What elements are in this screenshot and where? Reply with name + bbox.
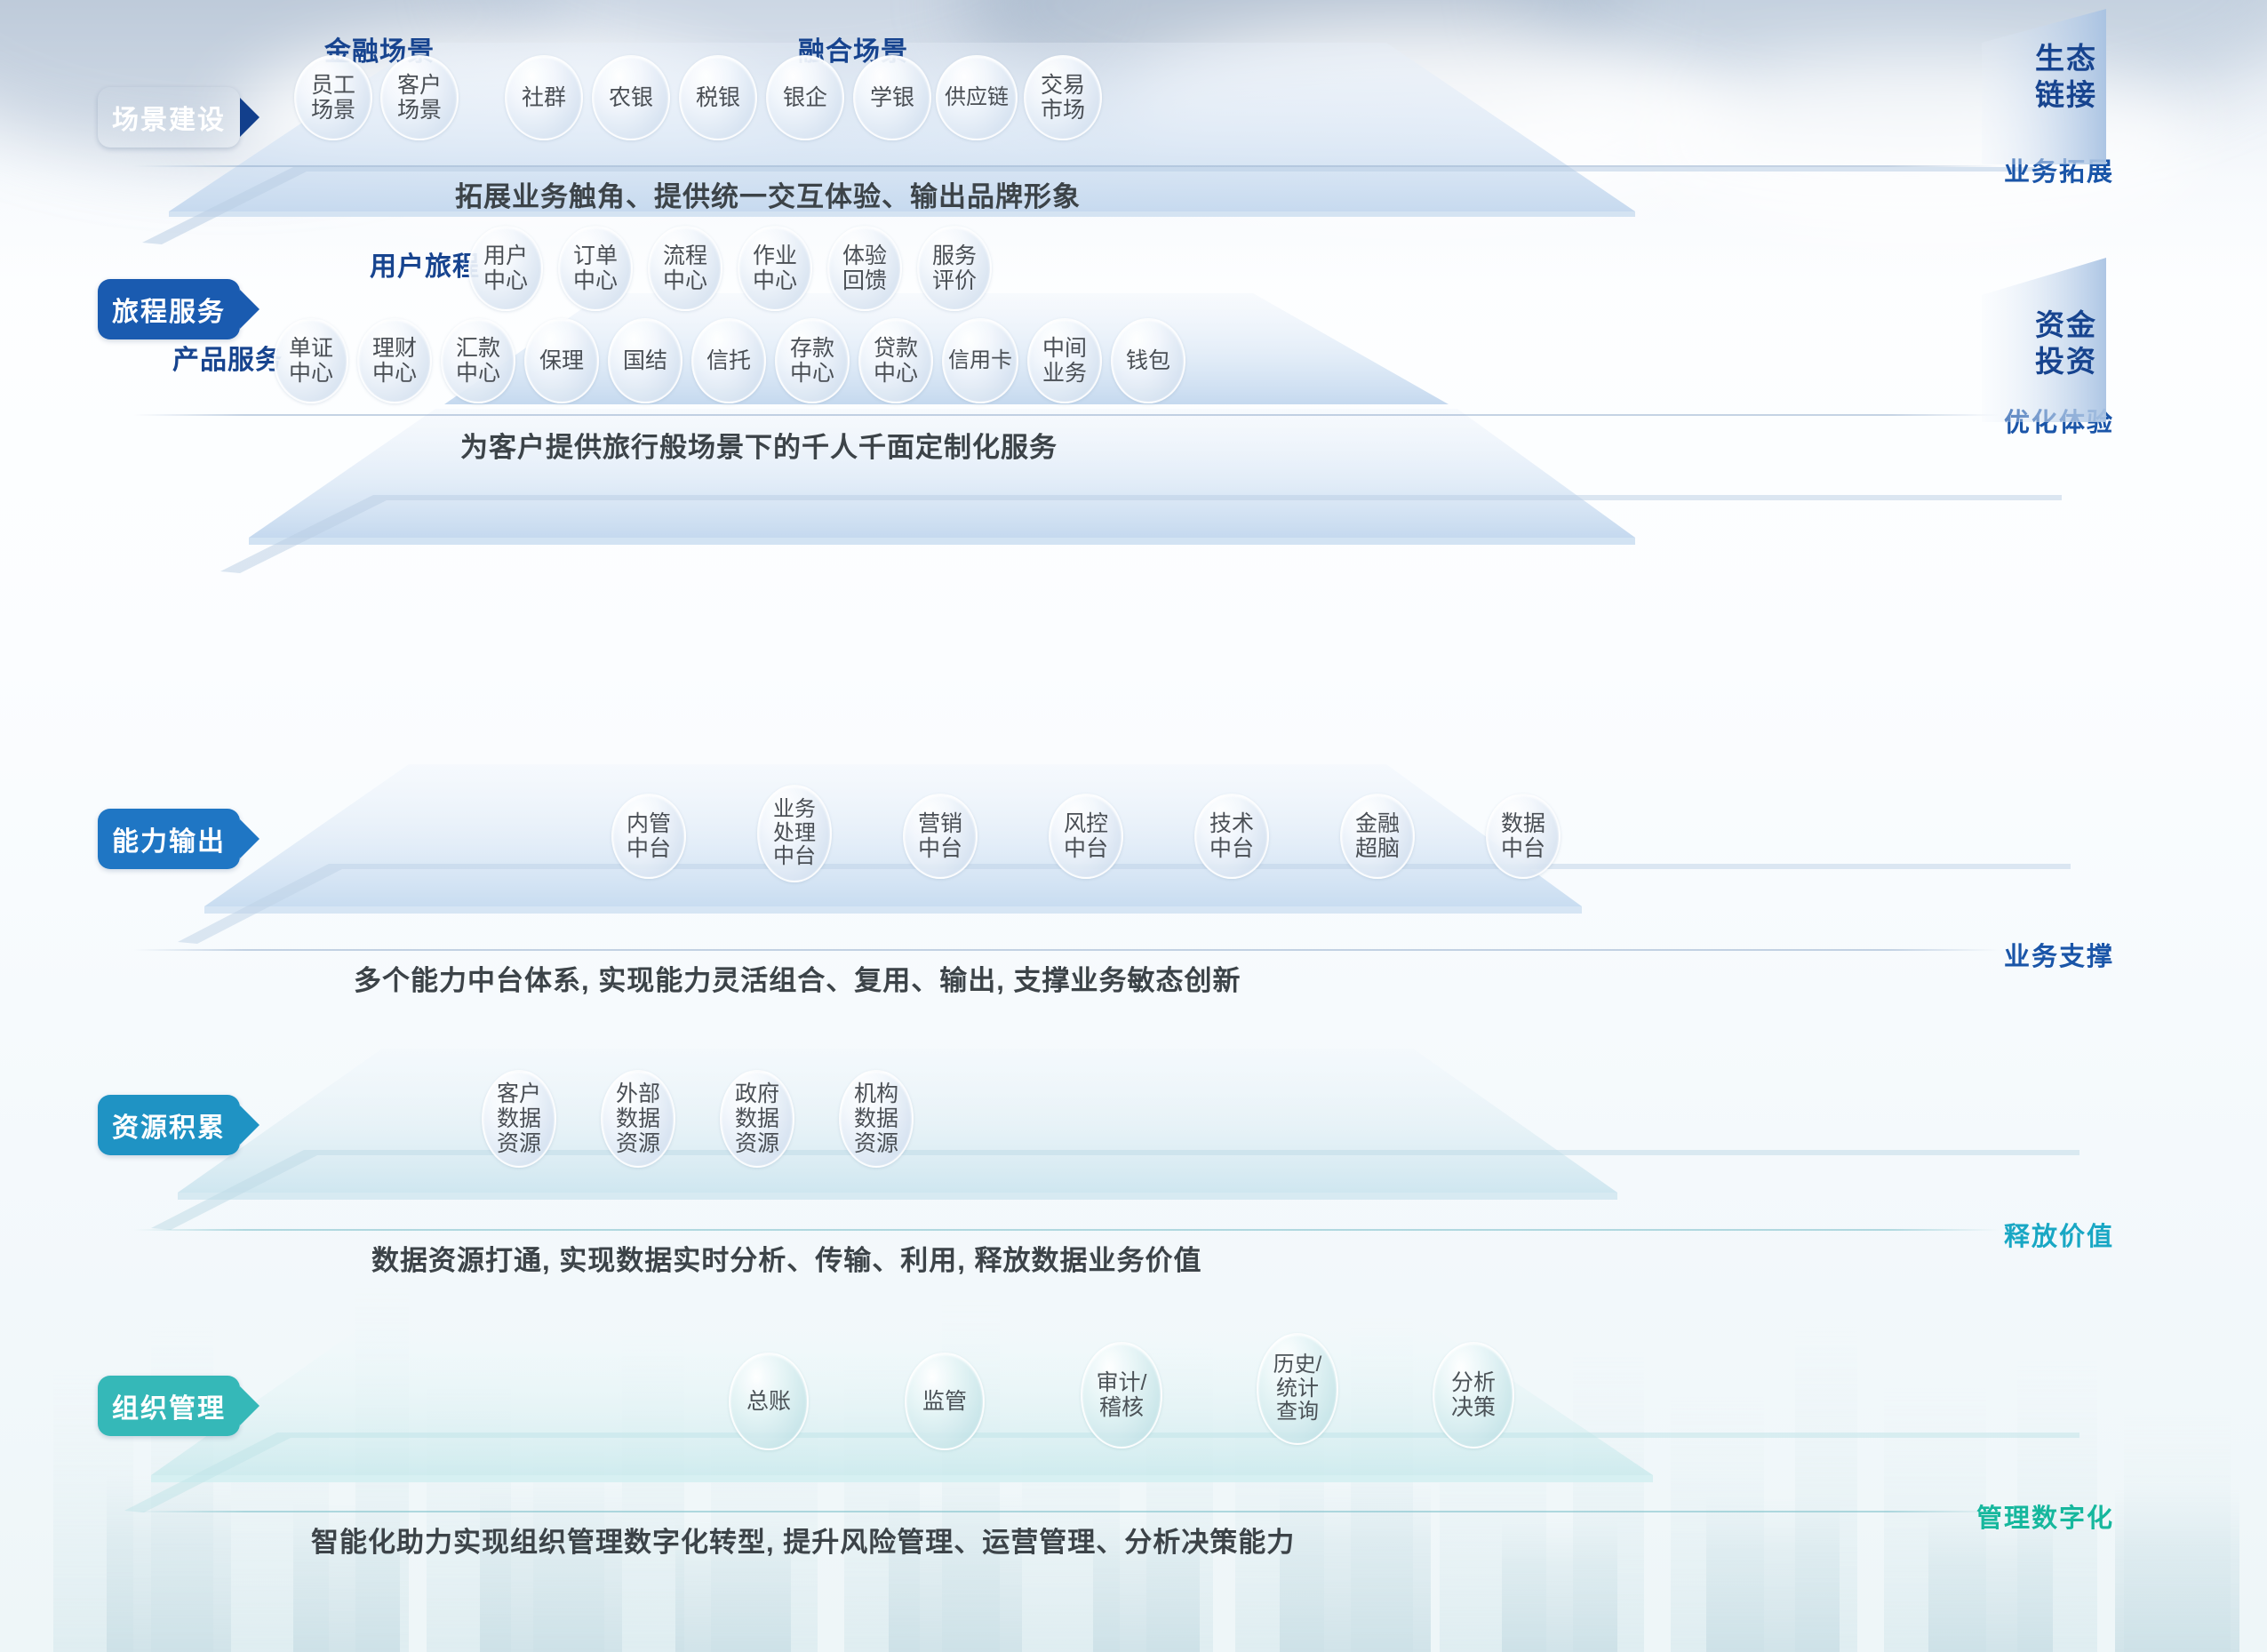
ribbon-line: 投资 xyxy=(2035,345,2097,378)
node-line: 农银 xyxy=(609,85,653,110)
tier-divider-scene xyxy=(133,165,2000,167)
tier-divider-organization xyxy=(133,1511,2000,1512)
node-line: 数据 xyxy=(497,1106,541,1131)
node-line: 供应链 xyxy=(945,86,1009,110)
node-line: 贷款 xyxy=(874,336,918,361)
tier-pill-label: 组织管理 xyxy=(112,1386,226,1425)
node-line: 中心 xyxy=(372,361,417,386)
tier-slogan-journey: 为客户提供旅行般场景下的千人千面定制化服务 xyxy=(460,425,1058,465)
node-line: 中心 xyxy=(289,361,333,386)
node-wallet[interactable]: 钱包 xyxy=(1111,318,1185,403)
node-line: 中心 xyxy=(874,361,918,386)
node-government-data-resource[interactable]: 政府 数据 资源 xyxy=(720,1070,794,1168)
node-line: 审计/ xyxy=(1097,1370,1147,1395)
node-internal-mgmt-platform[interactable]: 内管 中台 xyxy=(611,794,686,879)
node-general-ledger[interactable]: 总账 xyxy=(729,1353,809,1450)
node-line: 场景 xyxy=(311,98,355,123)
node-line: 中心 xyxy=(663,268,707,293)
node-line: 订单 xyxy=(573,243,618,268)
node-service-evaluation[interactable]: 服务 评价 xyxy=(917,226,992,311)
node-line: 资源 xyxy=(854,1131,898,1156)
group-caption-user-journey: 用户旅程 xyxy=(370,244,480,283)
node-audit-inspection[interactable]: 审计/ 稽核 xyxy=(1081,1342,1162,1448)
node-line: 历史/ xyxy=(1273,1353,1322,1377)
node-line: 数据 xyxy=(854,1106,898,1131)
node-line: 客户 xyxy=(497,1081,541,1106)
node-line: 国结 xyxy=(623,348,667,373)
node-employee-scene[interactable]: 员工 场景 xyxy=(294,55,372,140)
node-line: 分析 xyxy=(1451,1370,1496,1395)
tier-pill-resource-accumulation[interactable]: 资源积累 xyxy=(98,1095,240,1155)
tier-pill-label: 能力输出 xyxy=(112,819,226,858)
node-community[interactable]: 社群 xyxy=(505,55,583,140)
ribbon-line: 链接 xyxy=(2035,78,2097,111)
node-external-data-resource[interactable]: 外部 数据 资源 xyxy=(601,1070,675,1168)
node-line: 稽核 xyxy=(1099,1395,1144,1420)
node-line: 中心 xyxy=(753,268,797,293)
node-line: 处理 xyxy=(773,822,816,846)
node-line: 存款 xyxy=(790,336,834,361)
node-line: 学银 xyxy=(870,85,914,110)
node-line: 金融 xyxy=(1355,811,1400,836)
pill-arrow-icon xyxy=(240,819,259,858)
node-trust[interactable]: 信托 xyxy=(691,318,766,403)
node-line: 业务 xyxy=(1042,361,1087,386)
node-business-process-platform[interactable]: 业务 处理 中台 xyxy=(757,785,832,882)
pill-arrow-icon xyxy=(240,1105,259,1145)
node-line: 作业 xyxy=(753,243,797,268)
node-line: 中台 xyxy=(1209,836,1254,861)
node-line: 理财 xyxy=(372,336,417,361)
node-line: 中台 xyxy=(627,836,671,861)
node-order-center[interactable]: 订单 中心 xyxy=(558,226,633,311)
tier-pill-label: 资源积累 xyxy=(112,1105,226,1145)
node-line: 技术 xyxy=(1209,811,1254,836)
node-line: 回馈 xyxy=(842,268,887,293)
node-user-center[interactable]: 用户 中心 xyxy=(468,226,543,311)
architecture-diagram: 场景建设 金融场景 融合场景 员工 场景 客户 场景 社群 农银 税银 银企 学… xyxy=(0,0,2267,1652)
node-line: 银企 xyxy=(783,85,827,110)
node-technology-platform[interactable]: 技术 中台 xyxy=(1194,794,1269,879)
node-tax-bank[interactable]: 税银 xyxy=(679,55,757,140)
node-deposit-center[interactable]: 存款 中心 xyxy=(775,318,850,403)
node-customer-scene[interactable]: 客户 场景 xyxy=(380,55,459,140)
node-bank-enterprise[interactable]: 银企 xyxy=(766,55,844,140)
tier-keyword-management-digitization: 管理数字化 xyxy=(1976,1497,2114,1535)
tier-slogan-resource: 数据资源打通, 实现数据实时分析、传输、利用, 释放数据业务价值 xyxy=(371,1238,1201,1278)
node-intermediary-business[interactable]: 中间 业务 xyxy=(1027,318,1102,403)
node-line: 中台 xyxy=(1064,836,1108,861)
tier-pill-label: 场景建设 xyxy=(112,98,226,137)
pill-arrow-icon xyxy=(240,290,259,329)
node-line: 社群 xyxy=(522,85,566,110)
node-loan-center[interactable]: 贷款 中心 xyxy=(858,318,933,403)
node-line: 外部 xyxy=(616,1081,660,1106)
pill-arrow-icon xyxy=(240,98,259,137)
node-line: 统计 xyxy=(1276,1377,1319,1401)
node-history-statistics-query[interactable]: 历史/ 统计 查询 xyxy=(1257,1333,1338,1445)
node-line: 中心 xyxy=(456,361,500,386)
tier-keyword-business-support: 业务支撑 xyxy=(2004,936,2114,973)
node-line: 机构 xyxy=(854,1081,898,1106)
node-line: 中台 xyxy=(773,845,816,869)
node-line: 监管 xyxy=(922,1389,967,1414)
tier-band-resource xyxy=(71,1049,2106,1253)
node-line: 用户 xyxy=(483,243,528,268)
node-line: 政府 xyxy=(735,1081,779,1106)
node-line: 资源 xyxy=(497,1131,541,1156)
node-customer-data-resource[interactable]: 客户 数据 资源 xyxy=(482,1070,556,1168)
node-marketing-platform[interactable]: 营销 中台 xyxy=(903,794,978,879)
node-line: 交易 xyxy=(1041,73,1085,98)
node-line: 内管 xyxy=(627,811,671,836)
node-line: 体验 xyxy=(842,243,887,268)
node-trading-market[interactable]: 交易 市场 xyxy=(1024,55,1102,140)
node-line: 信托 xyxy=(706,348,751,373)
tier-slogan-organization: 智能化助力实现组织管理数字化转型, 提升风险管理、运营管理、分析决策能力 xyxy=(311,1520,1295,1560)
node-financial-brain[interactable]: 金融 超脑 xyxy=(1340,794,1415,879)
node-line: 数据 xyxy=(616,1106,660,1131)
node-line: 中间 xyxy=(1042,336,1087,361)
tier-slogan-capability: 多个能力中台体系, 实现能力灵活组合、复用、输出, 支撑业务敏态创新 xyxy=(354,958,1241,998)
tier-pill-organization-management[interactable]: 组织管理 xyxy=(98,1376,240,1436)
node-line: 税银 xyxy=(696,85,740,110)
node-line: 客户 xyxy=(397,73,442,98)
node-wealth-center[interactable]: 理财 中心 xyxy=(357,318,432,403)
node-line: 场景 xyxy=(397,98,442,123)
node-line: 数据 xyxy=(1501,811,1545,836)
node-document-center[interactable]: 单证 中心 xyxy=(274,318,348,403)
pill-arrow-icon xyxy=(240,1386,259,1425)
node-line: 资源 xyxy=(735,1131,779,1156)
group-caption-product-service: 产品服务 xyxy=(172,338,283,377)
node-credit-card[interactable]: 信用卡 xyxy=(942,318,1018,403)
tier-slogan-scene: 拓展业务触角、提供统一交互体验、输出品牌形象 xyxy=(455,174,1081,214)
ribbon-line: 资金 xyxy=(2035,308,2097,341)
node-international-settlement[interactable]: 国结 xyxy=(608,318,682,403)
tier-pill-scene-construction[interactable]: 场景建设 xyxy=(98,87,240,148)
node-line: 业务 xyxy=(773,798,816,822)
node-institution-data-resource[interactable]: 机构 数据 资源 xyxy=(839,1070,914,1168)
node-remittance-center[interactable]: 汇款 中心 xyxy=(441,318,515,403)
node-data-platform[interactable]: 数据 中台 xyxy=(1486,794,1561,879)
node-agri-bank[interactable]: 农银 xyxy=(592,55,670,140)
node-line: 信用卡 xyxy=(948,349,1012,373)
node-line: 决策 xyxy=(1451,1395,1496,1420)
node-line: 中心 xyxy=(573,268,618,293)
tier-pill-journey-service[interactable]: 旅程服务 xyxy=(98,279,240,339)
node-line: 中台 xyxy=(918,836,962,861)
node-line: 营销 xyxy=(918,811,962,836)
ribbon-line: 生态 xyxy=(2035,42,2097,75)
node-risk-control-platform[interactable]: 风控 中台 xyxy=(1049,794,1123,879)
node-school-bank[interactable]: 学银 xyxy=(853,55,931,140)
node-line: 超脑 xyxy=(1355,836,1400,861)
node-line: 资源 xyxy=(616,1131,660,1156)
node-line: 评价 xyxy=(932,268,977,293)
tier-divider-journey xyxy=(133,414,2000,416)
tier-band-journey xyxy=(107,227,2088,671)
node-line: 中台 xyxy=(1501,836,1545,861)
tier-band-organization xyxy=(53,1331,2106,1536)
tier-divider-resource xyxy=(133,1229,2000,1231)
node-experience-feedback[interactable]: 体验 回馈 xyxy=(827,226,902,311)
node-line: 市场 xyxy=(1041,98,1085,123)
node-line: 汇款 xyxy=(456,336,500,361)
node-line: 员工 xyxy=(311,73,355,98)
node-supervision[interactable]: 监管 xyxy=(905,1353,985,1450)
node-line: 风控 xyxy=(1064,811,1108,836)
node-process-center[interactable]: 流程 中心 xyxy=(648,226,722,311)
node-line: 服务 xyxy=(932,243,977,268)
tier-keyword-release-value: 释放价值 xyxy=(2004,1216,2114,1253)
node-operation-center[interactable]: 作业 中心 xyxy=(738,226,812,311)
node-line: 保理 xyxy=(539,348,584,373)
tier-pill-label: 旅程服务 xyxy=(112,290,226,329)
node-analysis-decision[interactable]: 分析 决策 xyxy=(1433,1342,1514,1448)
tier-divider-capability xyxy=(133,949,2000,951)
node-line: 流程 xyxy=(663,243,707,268)
node-line: 数据 xyxy=(735,1106,779,1131)
node-factoring[interactable]: 保理 xyxy=(524,318,599,403)
node-supply-chain[interactable]: 供应链 xyxy=(936,55,1018,140)
node-line: 查询 xyxy=(1276,1401,1319,1425)
ribbon-label-capital-investment: 资金 投资 xyxy=(2017,307,2115,380)
tier-pill-capability-output[interactable]: 能力输出 xyxy=(98,809,240,869)
node-line: 钱包 xyxy=(1126,348,1170,373)
node-line: 中心 xyxy=(790,361,834,386)
node-line: 总账 xyxy=(746,1389,791,1414)
ribbon-label-ecosystem-link: 生态 链接 xyxy=(2017,40,2115,114)
node-line: 单证 xyxy=(289,336,333,361)
node-line: 中心 xyxy=(483,268,528,293)
